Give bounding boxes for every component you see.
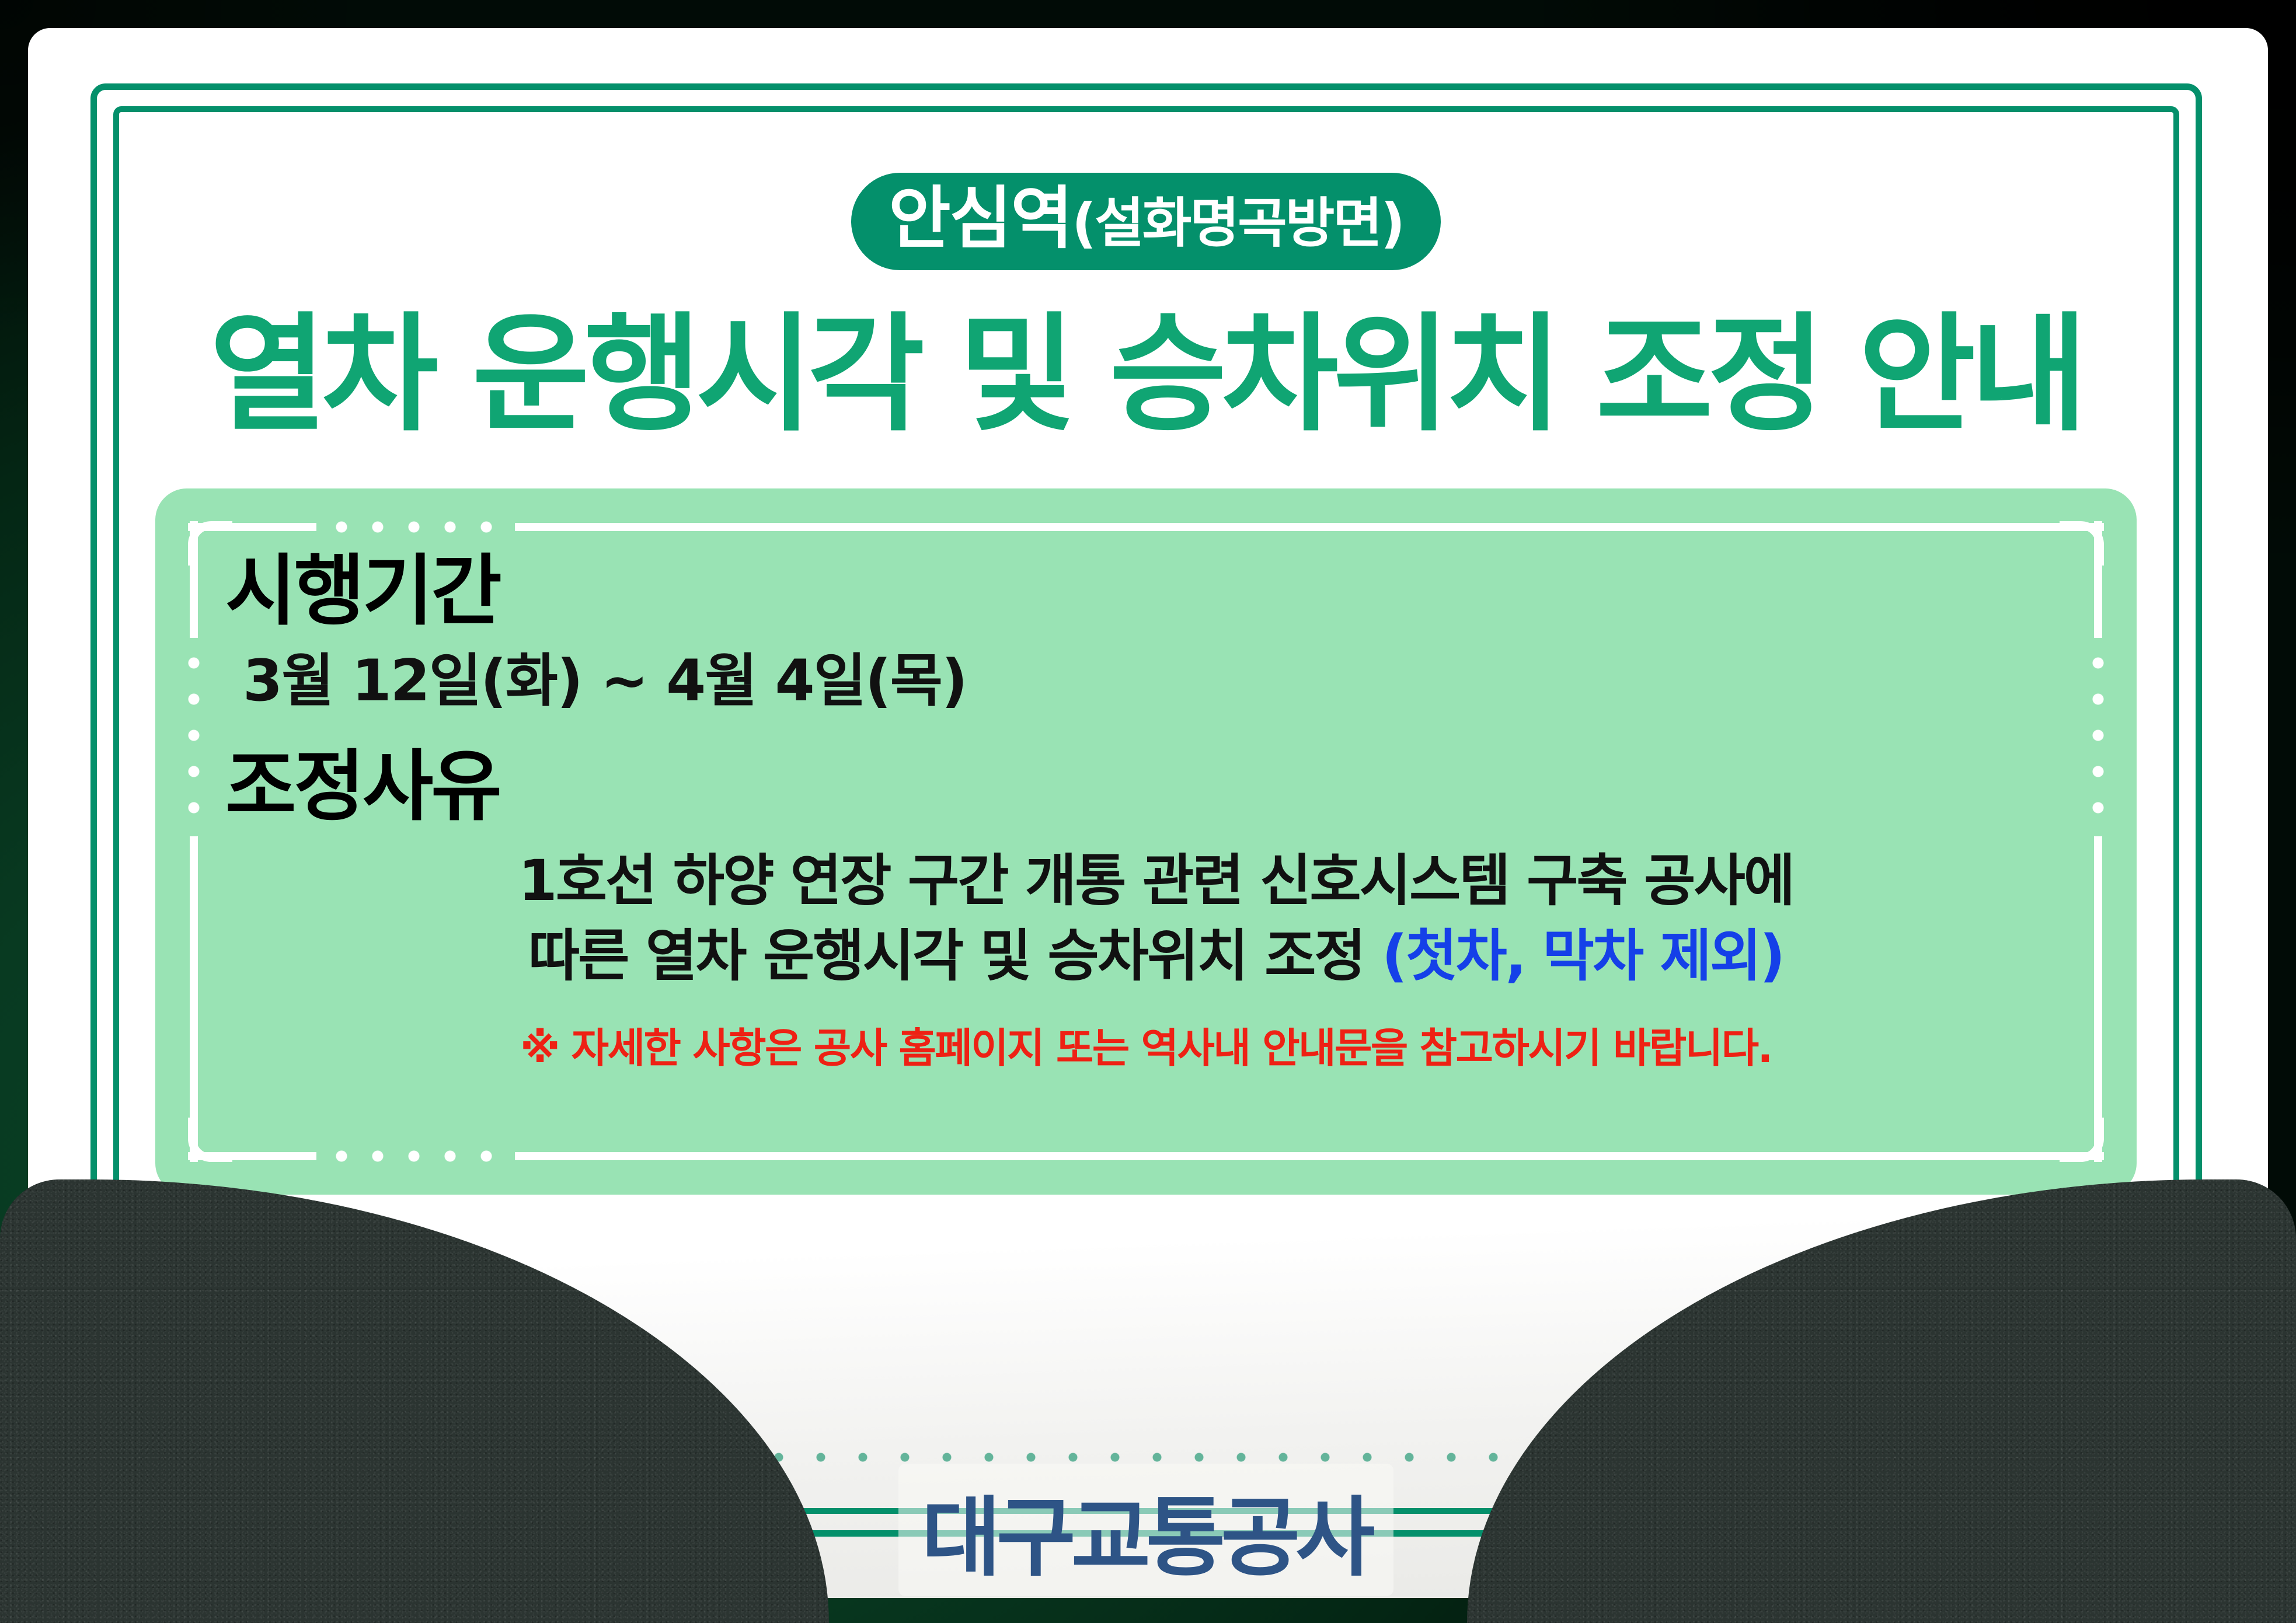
- station-badge: 안심역(설화명곡방면): [851, 173, 1441, 270]
- reason-heading: 조정사유: [225, 747, 2067, 827]
- info-box: 시행기간 3월 12일(화) ~ 4월 4일(목) 조정사유 1호선 하양 연장…: [155, 488, 2137, 1195]
- period-heading: 시행기간: [225, 552, 2067, 631]
- info-box-corner-bottom-left: [188, 1118, 232, 1162]
- station-name: 안심역: [889, 179, 1072, 258]
- reason-line-2: 따른 열차 운행시각 및 승차위치 조정 (첫차, 막차 제외): [245, 919, 2067, 994]
- reason-line-1: 1호선 하양 연장 구간 개통 관련 신호시스템 구축 공사에: [245, 843, 2067, 919]
- poster-root: 안심역(설화명곡방면) 열차 운행시각 및 승차위치 조정 안내 시행기간 3월…: [0, 0, 2296, 1623]
- period-value: 3월 12일(화) ~ 4월 4일(목): [225, 647, 2067, 717]
- info-box-border-bottom: [188, 1150, 2104, 1162]
- reason-body: 1호선 하양 연장 구간 개통 관련 신호시스템 구축 공사에 따른 열차 운행…: [225, 843, 2067, 993]
- reason-line-2-text: 따른 열차 운행시각 및 승차위치 조정: [528, 923, 1382, 989]
- organization-logo: 대구교통공사: [898, 1464, 1394, 1596]
- station-badge-row: 안심역(설화명곡방면): [127, 121, 2165, 270]
- reason-exception-note: (첫차, 막차 제외): [1382, 923, 1783, 989]
- page-title: 열차 운행시각 및 승차위치 조정 안내: [127, 304, 2165, 446]
- info-box-content: 시행기간 3월 12일(화) ~ 4월 4일(목) 조정사유 1호선 하양 연장…: [155, 488, 2137, 1073]
- station-direction: (설화명곡방면): [1072, 192, 1403, 254]
- additional-info-note: ※ 자세한 사항은 공사 홈페이지 또는 역사내 안내문을 참고하시기 바랍니다…: [225, 1024, 2067, 1073]
